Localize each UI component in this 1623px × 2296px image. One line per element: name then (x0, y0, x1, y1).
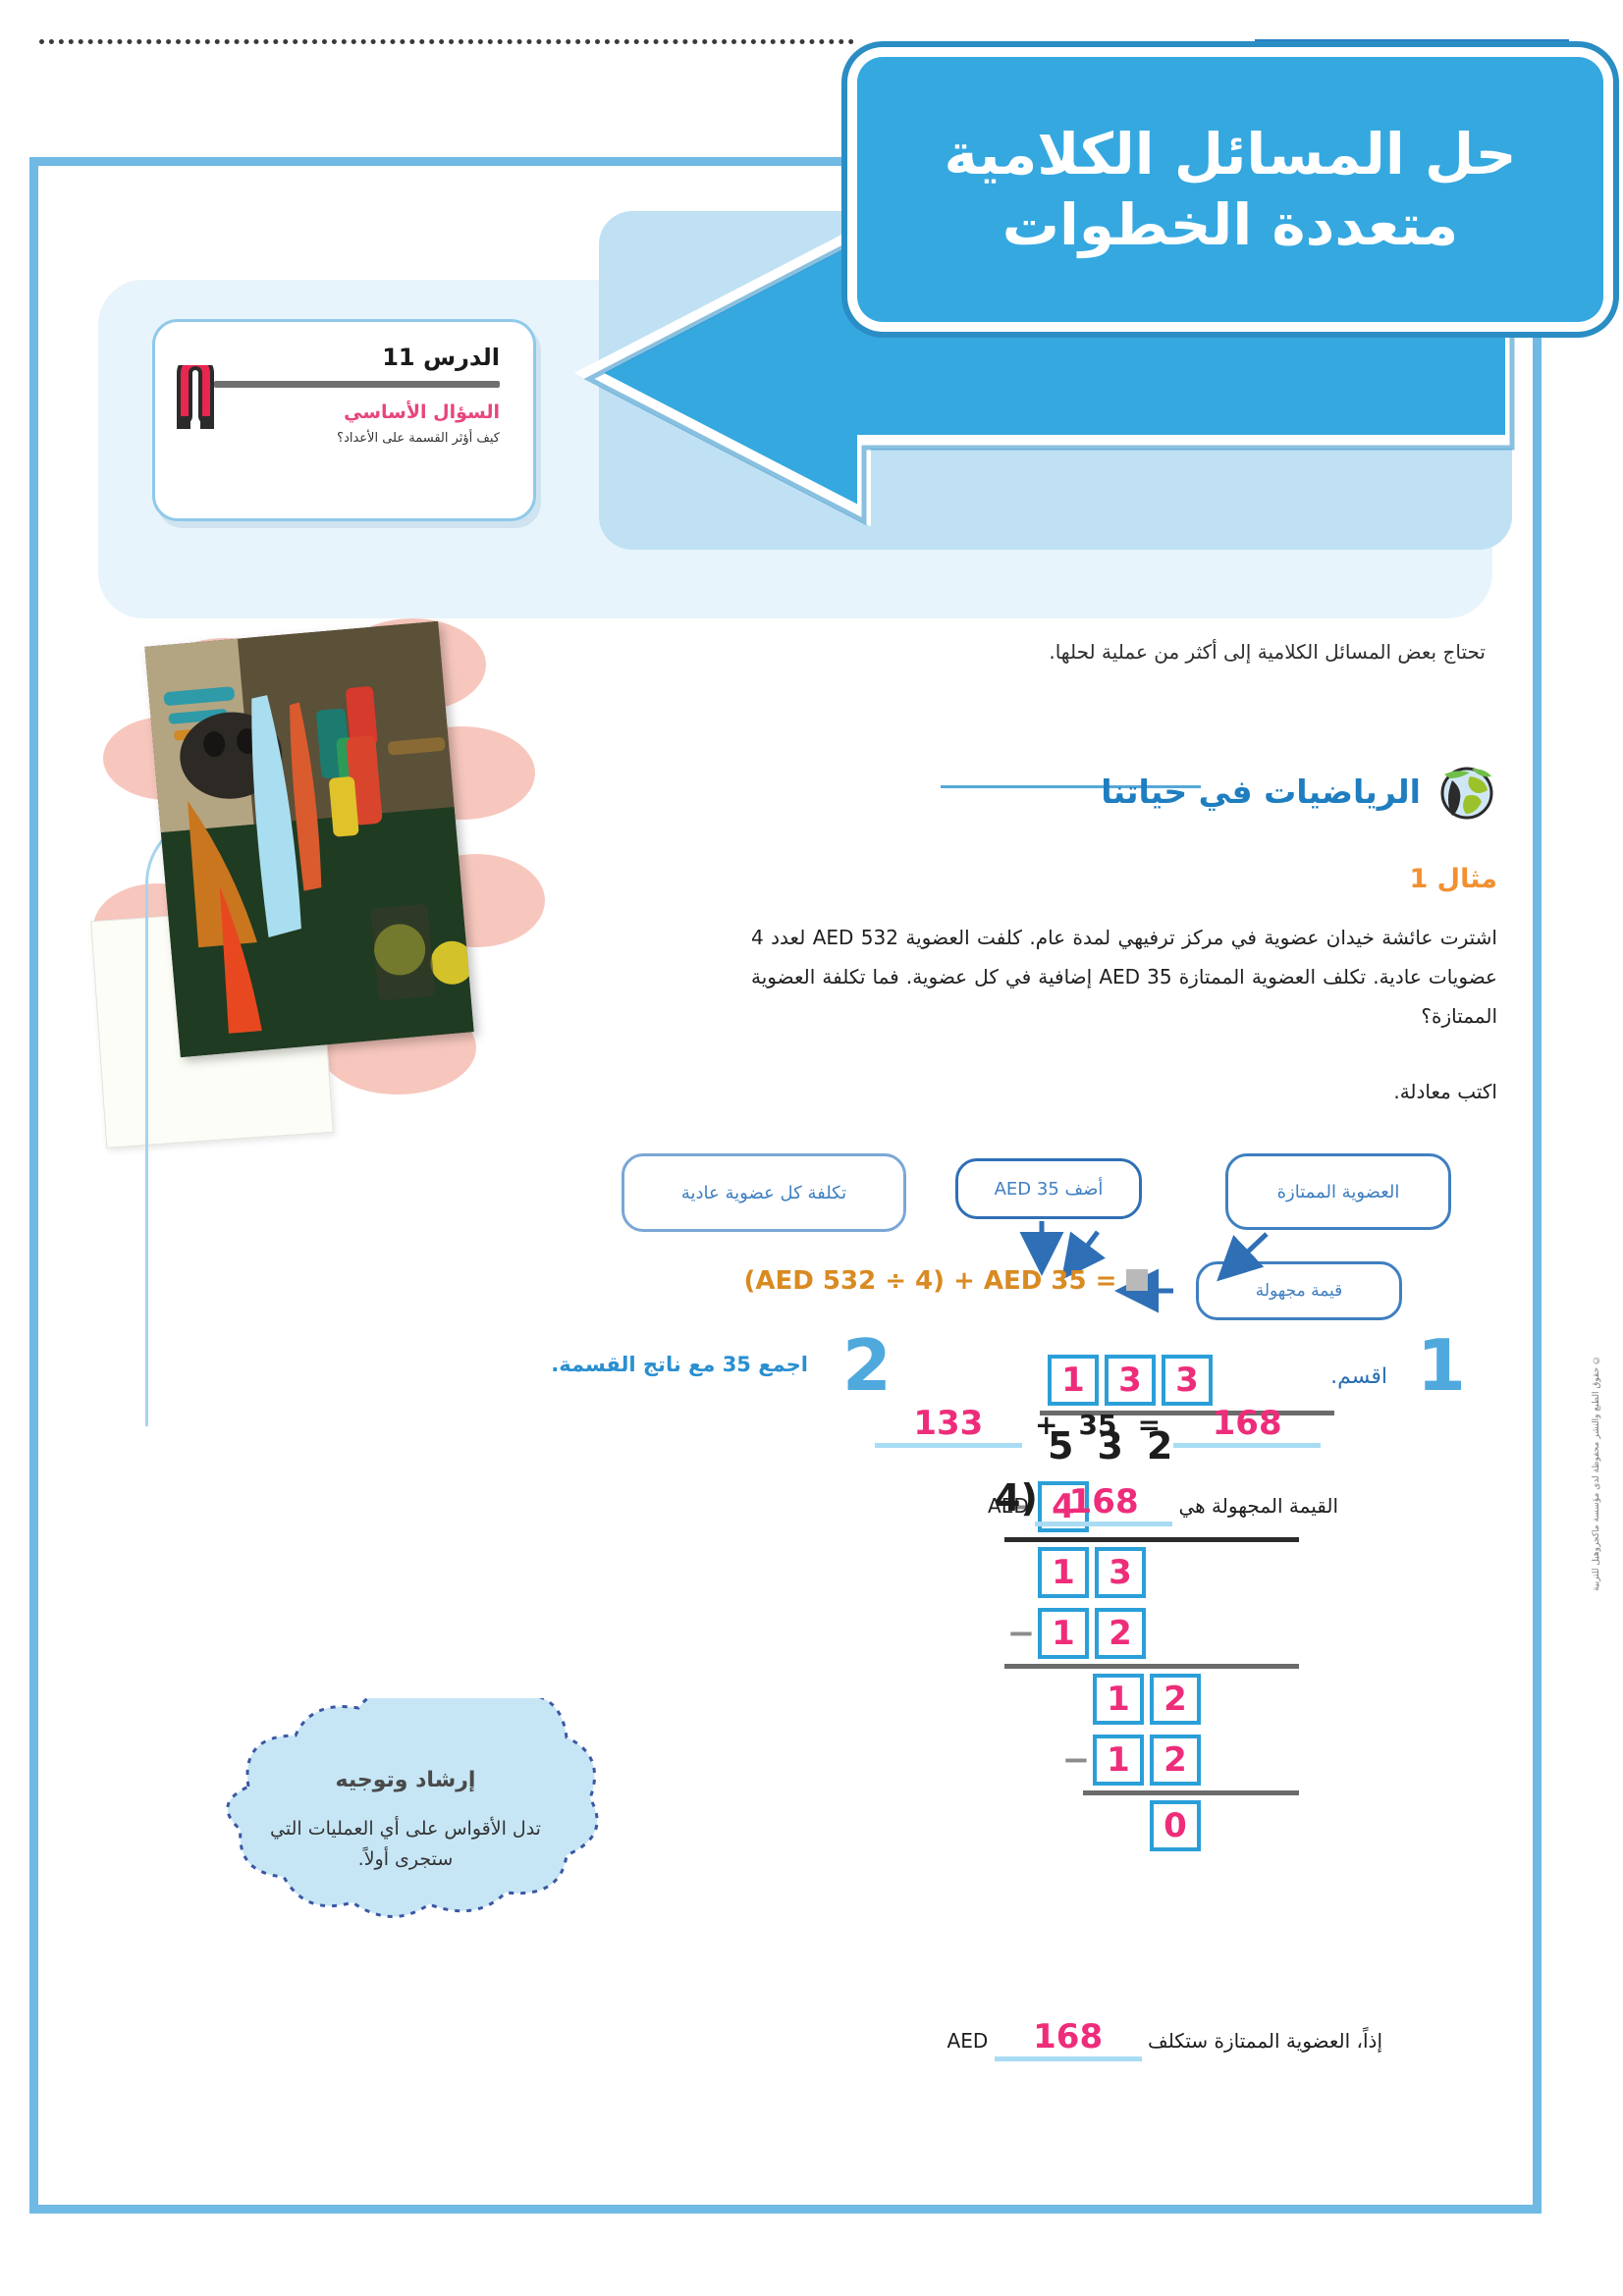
digit-box: 3 (1095, 1547, 1146, 1598)
hint-body: تدل الأقواس على أي العمليات التي ستجرى أ… (239, 1814, 572, 1874)
division-quotient-row: 1 3 3 (1048, 1350, 1358, 1411)
digit-box: 3 (1162, 1355, 1213, 1406)
conclusion-blank[interactable]: 168 (995, 2017, 1142, 2061)
digit-box: 1 (1038, 1547, 1089, 1598)
essential-question-label: السؤال الأساسي (214, 401, 500, 423)
callout-unknown-value: قيمة مجهولة (1196, 1261, 1402, 1320)
addend-2-value: 35 (1071, 1409, 1125, 1441)
minus-sign: − (1004, 1614, 1038, 1653)
conclusion-value: 168 (1033, 2017, 1103, 2056)
division-remainder-row-2: 1 2 (1093, 1669, 1358, 1730)
math-in-life-heading: الرياضيات في حياتنا (1101, 761, 1497, 822)
sum-blank[interactable]: 168 (1173, 1404, 1321, 1448)
dotted-divider (39, 39, 854, 44)
step-1-number: 1 (1417, 1330, 1466, 1401)
essential-question-text: كيف أؤثر القسمة على الأعداد؟ (214, 430, 500, 448)
division-final-remainder-row: 0 (1150, 1795, 1358, 1856)
step-2-result-line: القيمة المجهولة هي 168 AED (867, 1482, 1338, 1526)
title-line-1: حل المسائل الكلامية (944, 119, 1516, 190)
math-in-life-title: الرياضيات في حياتنا (1101, 773, 1421, 811)
page-title: حل المسائل الكلامية متعددة الخطوات (944, 119, 1516, 261)
digit-box: 1 (1093, 1735, 1144, 1786)
digit-box: 2 (1150, 1674, 1201, 1725)
lesson-photo (144, 621, 473, 1058)
digit-box: 2 (1150, 1735, 1201, 1786)
lesson-title-banner: حل المسائل الكلامية متعددة الخطوات (857, 57, 1603, 322)
result-blank[interactable]: 168 (1035, 1482, 1172, 1526)
hint-title: إرشاد وتوجيه (336, 1768, 476, 1792)
title-line-2: متعددة الخطوات (944, 189, 1516, 261)
digit-box: 0 (1150, 1800, 1201, 1851)
step-2-number: 2 (842, 1330, 892, 1401)
division-subtract-row-2: − 1 2 (1004, 1603, 1358, 1664)
digit-box: 1 (1038, 1608, 1089, 1659)
plus-sign: + (1027, 1409, 1065, 1441)
write-equation-prompt: اكتب معادلة. (1393, 1080, 1497, 1103)
equation-text: (AED 532 ÷ 4) + AED 35 = (743, 1266, 1116, 1296)
lesson-number: الدرس 11 (214, 344, 500, 371)
result-prefix: القيمة المجهولة هي (1178, 1494, 1338, 1518)
unknown-box-icon (1126, 1269, 1148, 1291)
word-problem-equation: (AED 532 ÷ 4) + AED 35 = (715, 1266, 1176, 1296)
hint-cloud-text: إرشاد وتوجيه تدل الأقواس على أي العمليات… (180, 1698, 631, 1944)
digit-box: 2 (1095, 1608, 1146, 1659)
callout-cost-each-regular: تكلفة كل عضوية عادية (622, 1153, 906, 1232)
conclusion-currency: AED (947, 2029, 989, 2053)
example-text: اشترت عائشة خيدان عضوية في مركز ترفيهي ل… (751, 918, 1497, 1036)
sum-value: 168 (1213, 1404, 1282, 1443)
addend-1-blank[interactable]: 133 (875, 1404, 1022, 1448)
callout-add-35: أضف AED 35 (955, 1158, 1142, 1219)
conclusion-line: إذاً، العضوية الممتازة ستكلف 168 AED (715, 2017, 1382, 2061)
step-2-equation: 133 + 35 = 168 (867, 1404, 1328, 1448)
digit-box: 3 (1105, 1355, 1156, 1406)
digit-box: 1 (1093, 1674, 1144, 1725)
lesson-info-card: الدرس 11 السؤال الأساسي كيف أؤثر القسمة … (152, 319, 536, 521)
globe-icon (1436, 761, 1497, 822)
conclusion-prefix: إذاً، العضوية الممتازة ستكلف (1148, 2029, 1382, 2053)
division-remainder-row-1: 1 3 (1038, 1542, 1358, 1603)
minus-sign: − (1059, 1740, 1093, 1780)
intro-paragraph: تحتاج بعض المسائل الكلامية إلى أكثر من ع… (779, 633, 1486, 670)
digit-box: 1 (1048, 1355, 1099, 1406)
lesson-divider (214, 381, 500, 388)
addend-1-value: 133 (913, 1404, 983, 1443)
step-2-label: اجمع 35 مع ناتج القسمة. (551, 1353, 808, 1376)
equals-sign: = (1130, 1409, 1168, 1441)
hint-cloud: إرشاد وتوجيه تدل الأقواس على أي العمليات… (180, 1698, 631, 1944)
result-currency: AED (988, 1494, 1029, 1518)
result-value: 168 (1069, 1482, 1139, 1522)
division-subtract-row-3: − 1 2 (1059, 1730, 1358, 1790)
example-label: مثال 1 (1409, 864, 1497, 894)
callout-premium-membership: العضوية الممتازة (1225, 1153, 1451, 1230)
vertical-copyright: © حقوق الطبع والنشر محفوظة لدى مؤسسة ماك… (1592, 1355, 1601, 1591)
